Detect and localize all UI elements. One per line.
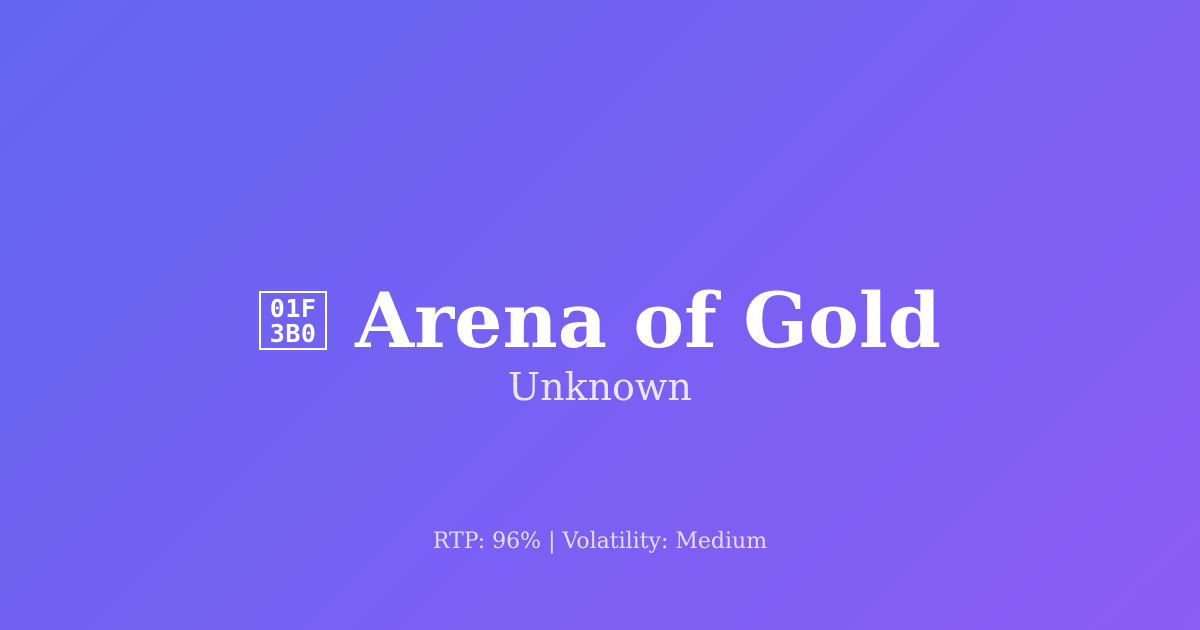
open-graph-card: 01F 3B0 Arena of Gold Unknown RTP: 96% |…: [0, 0, 1200, 630]
page-subtitle: Unknown: [0, 365, 1200, 411]
slot-machine-icon-codepoint-high: 01F: [270, 296, 317, 321]
page-title: Arena of Gold: [355, 283, 941, 359]
game-stats-line: RTP: 96% | Volatility: Medium: [0, 528, 1200, 557]
slot-machine-icon-codepoint-low: 3B0: [270, 321, 317, 346]
slot-machine-icon: 01F 3B0: [259, 291, 327, 350]
